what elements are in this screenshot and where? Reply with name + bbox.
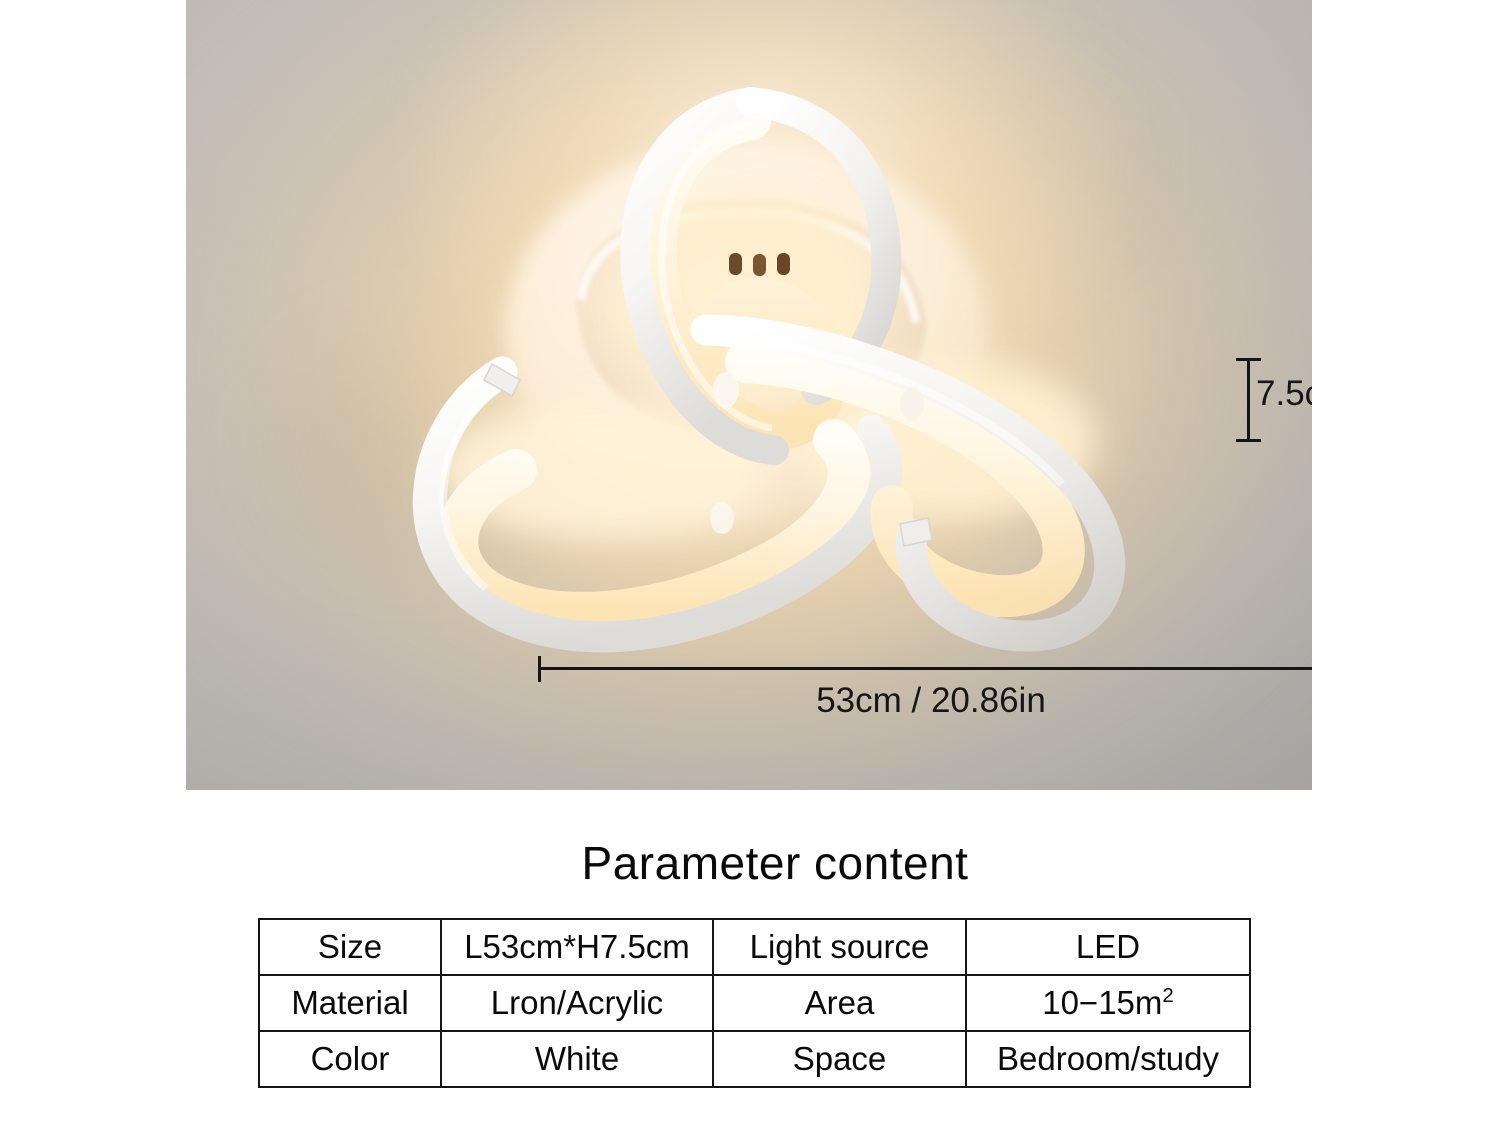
param-key-color: Color <box>259 1031 441 1087</box>
param-value-area-text: 10−15m <box>1042 984 1162 1021</box>
parameter-section-heading: Parameter content <box>0 836 1500 890</box>
photo-vignette <box>186 0 1312 790</box>
param-value-area-superscript: 2 <box>1162 984 1173 1007</box>
param-value-space-text: Bedroom/study <box>997 1040 1219 1077</box>
param-value-size: L53cm*H7.5cm <box>441 919 713 975</box>
param-key-material: Material <box>259 975 441 1031</box>
table-row: Size L53cm*H7.5cm Light source LED <box>259 919 1250 975</box>
param-key-area: Area <box>713 975 966 1031</box>
parameter-table-body: Size L53cm*H7.5cm Light source LED Mater… <box>259 919 1250 1087</box>
param-value-light-source: LED <box>966 919 1250 975</box>
param-key-light-source: Light source <box>713 919 966 975</box>
product-photo: 7.5cm / 2.95in 53cm / 20.86in <box>186 0 1312 790</box>
parameter-table: Size L53cm*H7.5cm Light source LED Mater… <box>258 918 1251 1088</box>
table-row: Material Lron/Acrylic Area 10−15m2 <box>259 975 1250 1031</box>
param-value-color: White <box>441 1031 713 1087</box>
param-value-material: Lron/Acrylic <box>441 975 713 1031</box>
param-key-space: Space <box>713 1031 966 1087</box>
table-row: Color White Space Bedroom/study <box>259 1031 1250 1087</box>
param-value-light-source-text: LED <box>1076 928 1140 965</box>
param-value-space: Bedroom/study <box>966 1031 1250 1087</box>
param-value-area: 10−15m2 <box>966 975 1250 1031</box>
param-key-size: Size <box>259 919 441 975</box>
parameter-heading-text: Parameter content <box>582 836 969 890</box>
